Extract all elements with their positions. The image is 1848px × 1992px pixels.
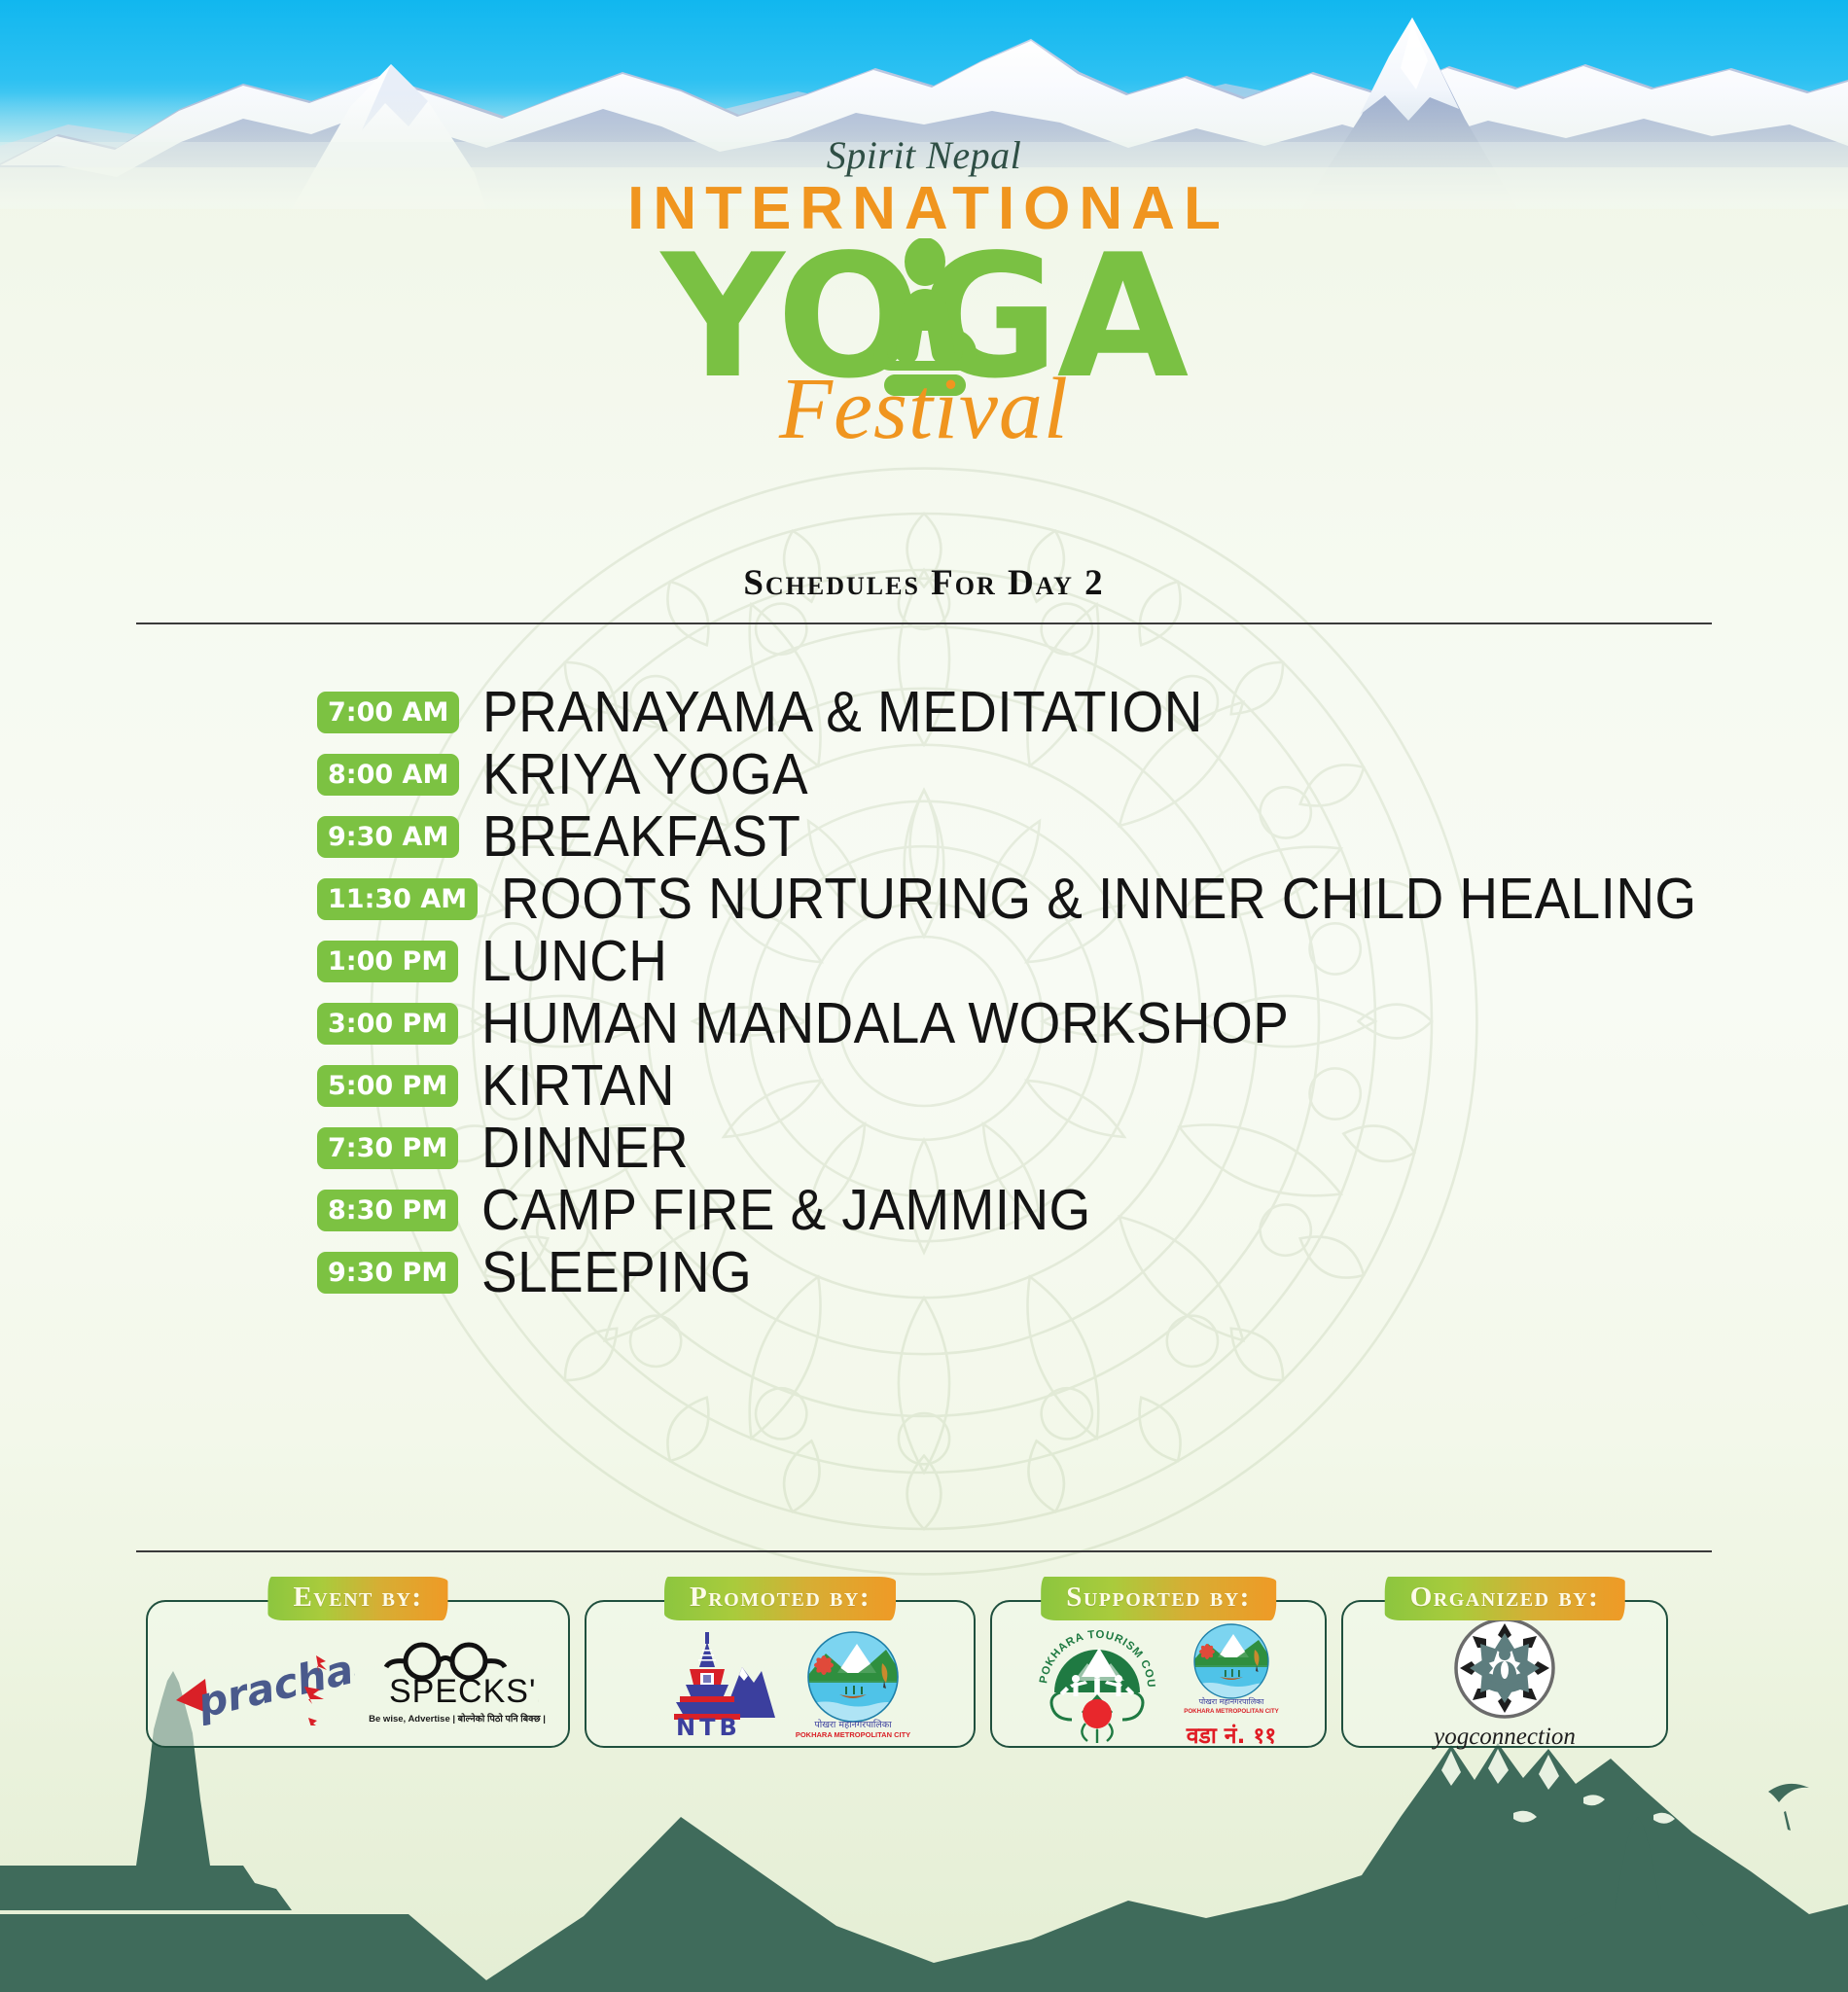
specks-wordmark: SPECKS'14	[389, 1673, 539, 1710]
sponsor-box-supported-by: Supported by: POKHARA TOURISM COUNCIL	[990, 1600, 1327, 1748]
divider-top	[136, 622, 1712, 624]
nepal-tourism-board-icon: NTB	[647, 1628, 779, 1737]
time-badge: 9:30 AM	[317, 816, 459, 858]
logo-prachaar: prachaar	[170, 1640, 355, 1725]
time-badge: 8:30 PM	[317, 1190, 458, 1231]
schedule-row: 9:30 AM BREAKFAST	[317, 805, 1679, 868]
logo-pokhara-metropolitan-city: पोखरा महानगरपालिका POKHARA METROPOLITAN …	[793, 1622, 913, 1743]
specks-glasses-icon: SPECKS'14	[375, 1642, 539, 1710]
time-badge: 11:30 AM	[317, 878, 478, 920]
event-name: KRIYA YOGA	[482, 745, 808, 803]
yoga-festival-poster: Spirit Nepal INTERNATIONAL YOGA Festival…	[0, 0, 1848, 1992]
pokhara-metropolitan-city-icon: पोखरा महानगरपालिका POKHARA METROPOLITAN …	[793, 1622, 913, 1743]
event-name: DINNER	[481, 1119, 689, 1177]
event-name: LUNCH	[481, 932, 667, 990]
time-badge: 5:00 PM	[317, 1065, 458, 1107]
sponsor-label-supported-by: Supported by:	[1041, 1577, 1276, 1620]
event-name: BREAKFAST	[482, 807, 800, 866]
event-name: HUMAN MANDALA WORKSHOP	[481, 994, 1289, 1052]
presenter-name: Spirit Nepal	[0, 136, 1848, 175]
schedule-row: 7:30 PM DINNER	[317, 1117, 1679, 1179]
festival-script-word: Festival	[0, 366, 1848, 453]
sponsor-label-promoted-by: Promoted by:	[664, 1577, 896, 1620]
event-name: KIRTAN	[481, 1056, 675, 1115]
yogconnection-wordmark: yogconnection	[1434, 1724, 1576, 1751]
sponsor-box-organized-by: Organized by:	[1341, 1600, 1668, 1748]
event-name: SLEEPING	[481, 1243, 752, 1301]
pmc-devanagari: पोखरा महानगरपालिका	[814, 1719, 892, 1730]
schedule-row: 8:00 AM KRIYA YOGA	[317, 743, 1679, 805]
time-badge: 3:00 PM	[317, 1003, 458, 1045]
ward-number: वडा नं. ११	[1187, 1719, 1277, 1750]
schedule-row: 8:30 PM CAMP FIRE & JAMMING	[317, 1179, 1679, 1241]
pokhara-metropolitan-city-ward-icon: पोखरा महानगरपालिका POKHARA METROPOLITAN …	[1177, 1617, 1286, 1718]
divider-bottom	[136, 1550, 1712, 1552]
event-name: PRANAYAMA & MEDITATION	[482, 683, 1203, 741]
logo-yogconnection: yogconnection	[1434, 1616, 1576, 1751]
time-badge: 7:00 AM	[317, 692, 459, 733]
schedule-row: 7:00 AM PRANAYAMA & MEDITATION	[317, 681, 1679, 743]
sponsor-box-event-by: Event by: prachaar	[146, 1600, 570, 1748]
event-name: CAMP FIRE & JAMMING	[481, 1181, 1091, 1239]
time-badge: 8:00 AM	[317, 754, 459, 796]
pmc-english: POKHARA METROPOLITAN CITY	[796, 1730, 910, 1739]
page-title: Schedules For Day 2	[0, 562, 1848, 604]
logo-specks-14: SPECKS'14 Be wise, Advertise | बोल्नेको …	[369, 1642, 546, 1725]
pmc-ward-english: POKHARA METROPOLITAN CITY	[1184, 1708, 1279, 1715]
sponsor-box-promoted-by: Promoted by:	[585, 1600, 976, 1748]
schedule-row: 5:00 PM KIRTAN	[317, 1054, 1679, 1117]
sponsor-label-organized-by: Organized by:	[1385, 1577, 1625, 1620]
pokhara-tourism-council-icon: POKHARA TOURISM COUNCIL	[1031, 1620, 1163, 1745]
ntb-wordmark: NTB	[676, 1714, 741, 1737]
schedule-list: 7:00 AM PRANAYAMA & MEDITATION 8:00 AM K…	[317, 681, 1679, 1303]
yogconnection-mandala-icon	[1452, 1616, 1557, 1721]
schedule-row: 3:00 PM HUMAN MANDALA WORKSHOP	[317, 992, 1679, 1054]
time-badge: 9:30 PM	[317, 1252, 458, 1294]
schedule-row: 11:30 AM ROOTS NURTURING & INNER CHILD H…	[317, 868, 1679, 930]
event-name: ROOTS NURTURING & INNER CHILD HEALING	[501, 870, 1697, 928]
logo-pokhara-metropolitan-city-ward: पोखरा महानगरपालिका POKHARA METROPOLITAN …	[1177, 1617, 1286, 1750]
pmc-ward-devanagari: पोखरा महानगरपालिका	[1199, 1696, 1265, 1706]
schedule-row: 1:00 PM LUNCH	[317, 930, 1679, 992]
logo-ntb: NTB	[647, 1628, 779, 1737]
svg-text:prachaar: prachaar	[193, 1640, 355, 1725]
sponsor-label-event-by: Event by:	[267, 1577, 447, 1620]
time-badge: 1:00 PM	[317, 941, 458, 982]
time-badge: 7:30 PM	[317, 1127, 458, 1169]
logo-pokhara-tourism-council: POKHARA TOURISM COUNCIL	[1031, 1620, 1163, 1745]
sponsor-strip: Event by: prachaar	[146, 1600, 1702, 1748]
specks-tagline: Be wise, Advertise | बोल्नेको पिठो पनि ब…	[369, 1712, 546, 1725]
poster-header: Spirit Nepal INTERNATIONAL YOGA Festival	[0, 136, 1848, 453]
schedule-row: 9:30 PM SLEEPING	[317, 1241, 1679, 1303]
prachaar-logo-icon: prachaar	[170, 1640, 355, 1725]
